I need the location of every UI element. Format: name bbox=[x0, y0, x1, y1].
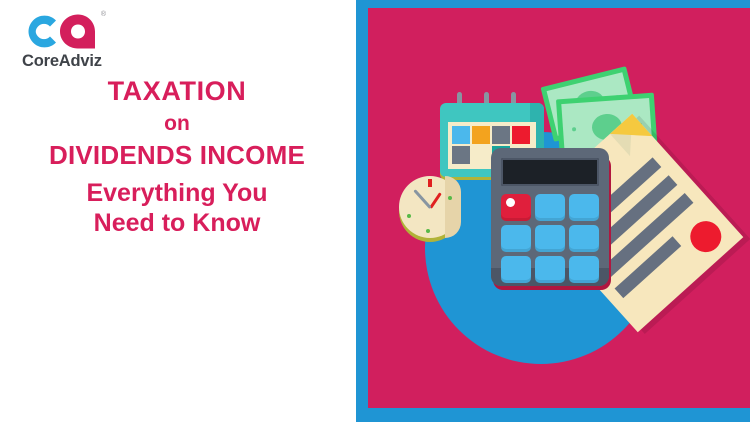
calculator-display bbox=[501, 158, 599, 186]
calculator-icon bbox=[491, 148, 609, 286]
calendar-day-cell bbox=[492, 126, 510, 144]
headline-block: TAXATION on DIVIDENDS INCOME Everything … bbox=[12, 76, 342, 237]
calendar-day-cell bbox=[452, 146, 470, 164]
calculator-body bbox=[491, 148, 609, 286]
registered-trademark-icon: ® bbox=[101, 11, 106, 18]
clock-pip bbox=[407, 214, 411, 218]
brand-wordmark: CoreAdviz bbox=[22, 52, 142, 70]
headline-line-3: DIVIDENDS INCOME bbox=[12, 141, 342, 170]
illustration-panel-inner: TAX bbox=[368, 8, 750, 408]
calendar-day-cell bbox=[452, 126, 470, 144]
calculator-key[interactable] bbox=[569, 194, 599, 221]
brand-logo[interactable]: ® CoreAdviz bbox=[22, 12, 142, 70]
calculator-keypad bbox=[501, 194, 599, 283]
clock-pip bbox=[448, 196, 452, 200]
illustration-panel: TAX bbox=[356, 0, 750, 422]
clock-face-shade bbox=[445, 176, 461, 238]
calendar-day-cell bbox=[472, 146, 490, 164]
calculator-key[interactable] bbox=[569, 256, 599, 283]
headline-line-4: Everything You bbox=[12, 179, 342, 207]
clock-marker-top bbox=[428, 179, 432, 187]
infographic-canvas: ® CoreAdviz TAXATION on DIVIDENDS INCOME… bbox=[0, 0, 750, 422]
headline-line-1: TAXATION bbox=[12, 76, 342, 106]
calculator-key[interactable] bbox=[535, 194, 565, 221]
calculator-key[interactable] bbox=[535, 256, 565, 283]
tax-document-red-seal-icon bbox=[684, 215, 728, 259]
headline-line-5: Need to Know bbox=[12, 209, 342, 237]
clock-face bbox=[399, 176, 461, 238]
clock-hand-minute bbox=[413, 189, 431, 209]
calculator-key[interactable] bbox=[501, 256, 531, 283]
calculator-key[interactable] bbox=[535, 225, 565, 252]
calculator-key-power[interactable] bbox=[501, 194, 531, 221]
calculator-key[interactable] bbox=[569, 225, 599, 252]
clock-pip bbox=[426, 229, 430, 233]
clock-icon bbox=[399, 176, 461, 238]
calendar-day-cell bbox=[472, 126, 490, 144]
calculator-key[interactable] bbox=[501, 225, 531, 252]
banknote-dot bbox=[572, 127, 576, 131]
coreadviz-infinity-ca-logo-icon: ® bbox=[26, 12, 102, 50]
calendar-day-cell bbox=[512, 126, 530, 144]
headline-line-2: on bbox=[12, 112, 342, 136]
